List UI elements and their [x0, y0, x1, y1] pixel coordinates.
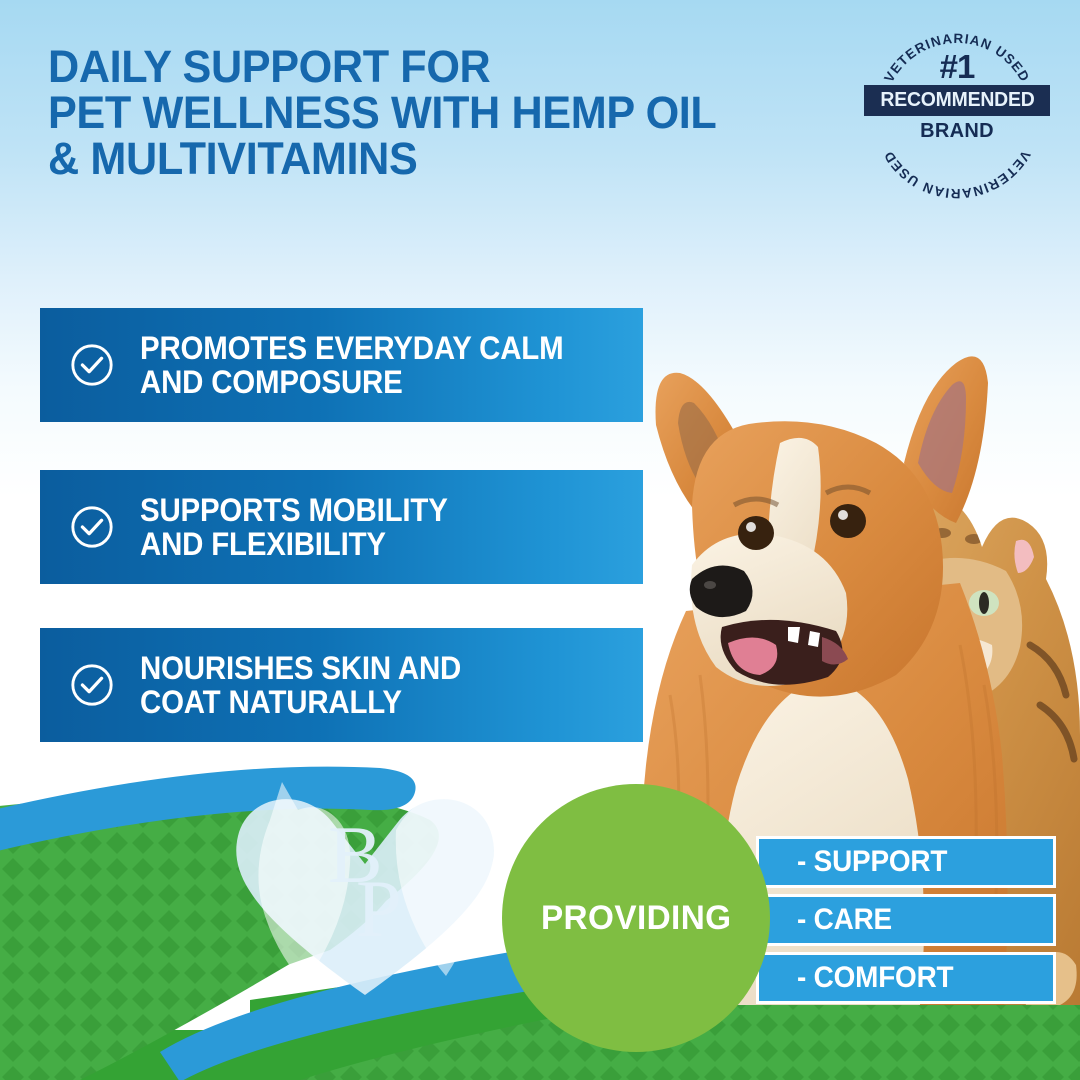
check-circle-icon: [69, 342, 115, 388]
providing-label: PROVIDING: [541, 899, 732, 938]
watermark-letter-p: P: [356, 863, 402, 954]
providing-item-support: - SUPPORT: [756, 836, 1056, 888]
providing-item-label: - CARE: [797, 903, 892, 937]
badge-recommended-text: RECOMMENDED: [880, 89, 1034, 112]
check-circle-icon: [69, 504, 115, 550]
promo-graphic: DAILY SUPPORT FOR PET WELLNESS WITH HEMP…: [0, 0, 1080, 1080]
headline-line-1: DAILY SUPPORT FOR: [48, 44, 806, 90]
headline-line-2: PET WELLNESS WITH HEMP OIL: [48, 90, 806, 136]
feature-text-2: SUPPORTS MOBILITYAND FLEXIBILITY: [140, 493, 448, 561]
providing-item-label: - COMFORT: [797, 961, 953, 995]
badge-brand-text: BRAND: [862, 120, 1052, 143]
providing-item-care: - CARE: [756, 894, 1056, 946]
feature-bar-2: SUPPORTS MOBILITYAND FLEXIBILITY: [40, 470, 643, 584]
page-title: DAILY SUPPORT FOR PET WELLNESS WITH HEMP…: [48, 44, 806, 182]
brand-watermark-logo: B P: [200, 760, 530, 1010]
badge-recommended-bar: RECOMMENDED: [864, 85, 1050, 116]
feature-text-1: PROMOTES EVERYDAY CALMAND COMPOSURE: [140, 331, 563, 399]
feature-bar-1: PROMOTES EVERYDAY CALMAND COMPOSURE: [40, 308, 643, 422]
providing-item-label: - SUPPORT: [797, 845, 947, 879]
veterinarian-recommended-badge: VETERINARIAN USED VETERINARIAN USED #1 R…: [862, 28, 1052, 188]
badge-rank: #1: [862, 48, 1052, 86]
providing-list: - SUPPORT - CARE - COMFORT: [756, 836, 1056, 1004]
providing-item-comfort: - COMFORT: [756, 952, 1056, 1004]
providing-circle: PROVIDING: [502, 784, 770, 1052]
